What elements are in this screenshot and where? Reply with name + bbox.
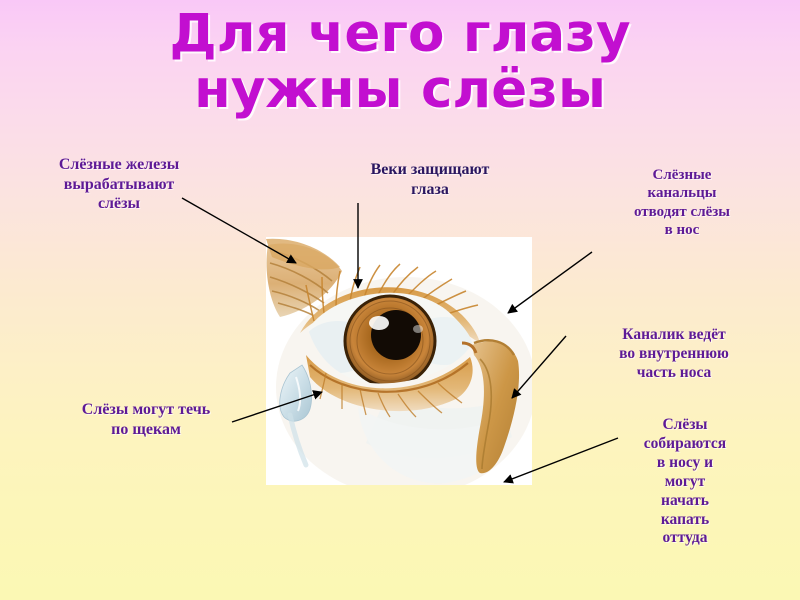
label-lacrimal-glands: Слёзные железы вырабатывают слёзы bbox=[8, 155, 230, 214]
label-nasolacrimal-duct: Каналик ведёт во внутреннюю часть носа bbox=[568, 326, 780, 383]
eye-anatomy-figure bbox=[266, 237, 532, 485]
corneal-highlight bbox=[369, 316, 389, 330]
label-canaliculi: Слёзные канальцы отводят слёзы в нос bbox=[588, 166, 776, 239]
label-eyelids: Веки защищают глаза bbox=[318, 160, 542, 199]
eye-illustration bbox=[266, 237, 532, 485]
label-tears-nose: Слёзы собираются в носу и могут начать к… bbox=[604, 416, 766, 548]
slide-canvas: Для чего глазу нужны слёзы bbox=[0, 0, 800, 600]
label-tears-cheeks: Слёзы могут течь по щекам bbox=[28, 400, 264, 439]
page-title: Для чего глазу нужны слёзы bbox=[0, 6, 800, 117]
